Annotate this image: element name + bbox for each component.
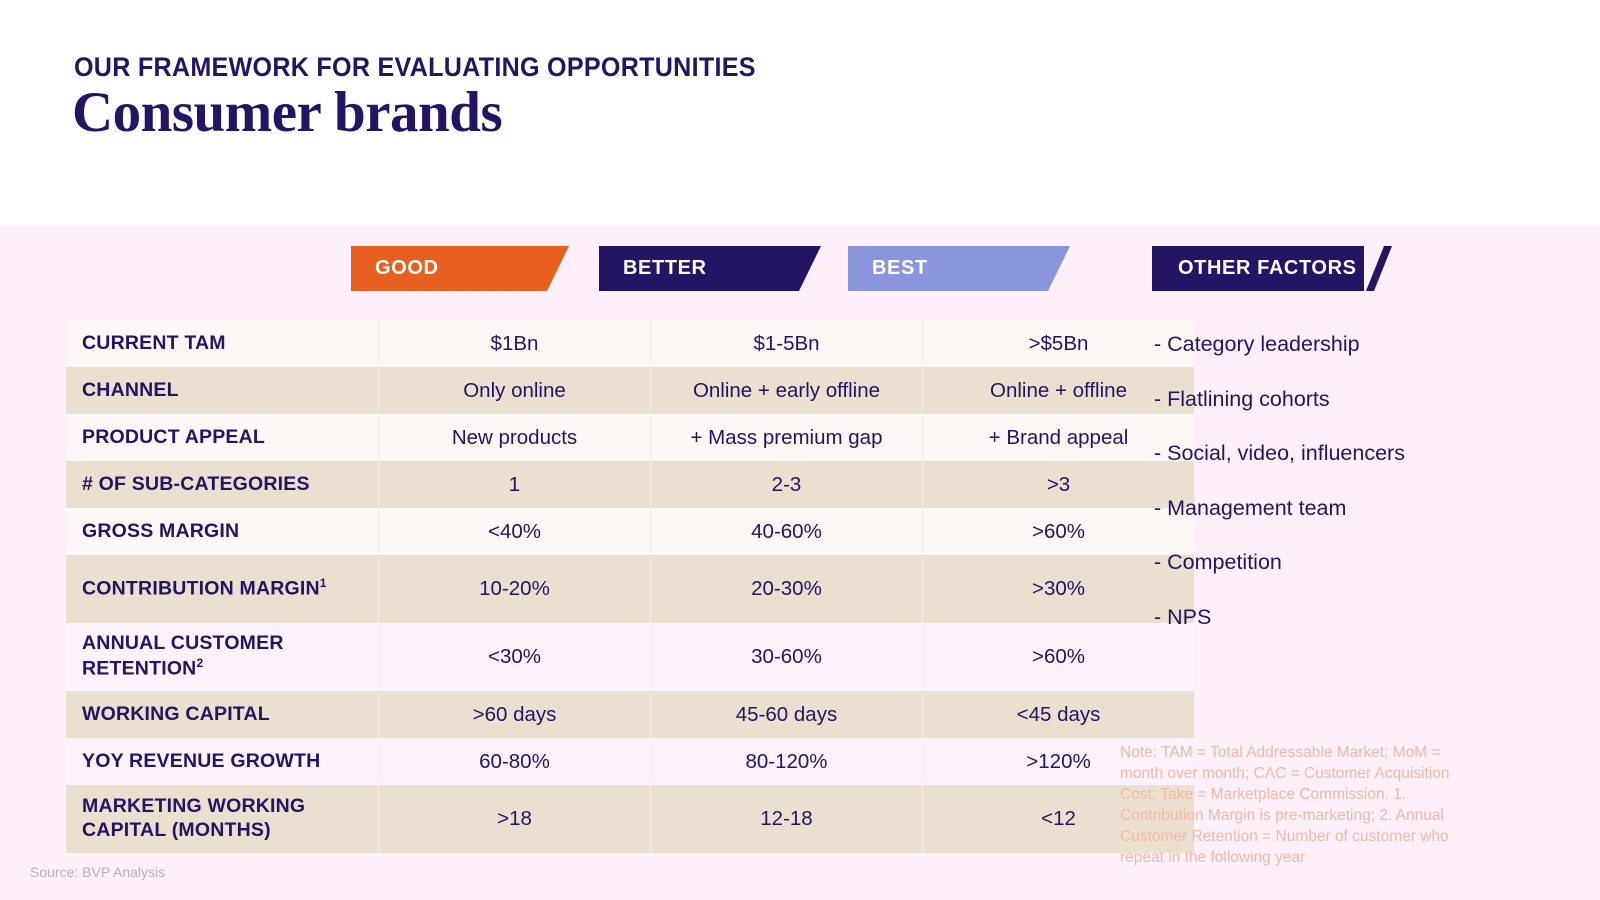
table-row: MARKETING WORKING CAPITAL (MONTHS) >18 1… (66, 785, 1194, 853)
row-label: MARKETING WORKING CAPITAL (MONTHS) (66, 785, 379, 853)
list-item: - NPS (1154, 607, 1554, 629)
column-banner-best-label: BEST (872, 257, 928, 280)
table-row: CHANNEL Only online Online + early offli… (66, 367, 1194, 414)
row-label-footnote-marker: 2 (196, 656, 203, 670)
eyebrow-text: OUR FRAMEWORK FOR EVALUATING OPPORTUNITI… (74, 52, 756, 83)
table-row: CONTRIBUTION MARGIN1 10-20% 20-30% >30% (66, 555, 1194, 623)
cell-best: <45 days (923, 691, 1195, 738)
other-factors-banner-label: OTHER FACTORS (1178, 257, 1357, 280)
list-item: - Management team (1154, 498, 1554, 520)
footnote-text: Note: TAM = Total Addressable Market; Mo… (1120, 742, 1482, 868)
cell-good: >18 (379, 785, 651, 853)
other-factors-banner[interactable]: OTHER FACTORS (1152, 246, 1364, 291)
cell-better: 12-18 (651, 785, 923, 853)
row-label: CURRENT TAM (66, 320, 379, 367)
cell-good: >60 days (379, 691, 651, 738)
cell-good: New products (379, 414, 651, 461)
column-banner-better-label: BETTER (623, 257, 707, 280)
cell-better: 30-60% (651, 623, 923, 691)
list-item: - Competition (1154, 552, 1554, 574)
row-label: ANNUAL CUSTOMER RETENTION2 (66, 623, 379, 691)
row-label-footnote-marker: 1 (320, 576, 327, 590)
list-item: - Flatlining cohorts (1154, 389, 1554, 411)
cell-good: 1 (379, 461, 651, 508)
row-label: # OF SUB-CATEGORIES (66, 461, 379, 508)
cell-good: <40% (379, 508, 651, 555)
row-label: CONTRIBUTION MARGIN1 (66, 555, 379, 623)
row-label: CHANNEL (66, 367, 379, 414)
column-banner-best[interactable]: BEST (848, 246, 1070, 291)
comparison-table: CURRENT TAM $1Bn $1-5Bn >$5Bn CHANNEL On… (66, 320, 1194, 853)
cell-better: 80-120% (651, 738, 923, 785)
cell-better: 40-60% (651, 508, 923, 555)
cell-better: + Mass premium gap (651, 414, 923, 461)
other-factors-list: - Category leadership - Flatlining cohor… (1154, 334, 1554, 661)
table-row: WORKING CAPITAL >60 days 45-60 days <45 … (66, 691, 1194, 738)
table-row: GROSS MARGIN <40% 40-60% >60% (66, 508, 1194, 555)
cell-better: 2-3 (651, 461, 923, 508)
row-label: WORKING CAPITAL (66, 691, 379, 738)
row-label: PRODUCT APPEAL (66, 414, 379, 461)
cell-good: Only online (379, 367, 651, 414)
list-item: - Social, video, influencers (1154, 443, 1554, 465)
table-row: PRODUCT APPEAL New products + Mass premi… (66, 414, 1194, 461)
column-banner-good[interactable]: GOOD (351, 246, 569, 291)
cell-good: <30% (379, 623, 651, 691)
table-row: YOY REVENUE GROWTH 60-80% 80-120% >120% (66, 738, 1194, 785)
cell-better: Online + early offline (651, 367, 923, 414)
comparison-table-body: CURRENT TAM $1Bn $1-5Bn >$5Bn CHANNEL On… (66, 320, 1194, 853)
row-label-text: ANNUAL CUSTOMER RETENTION (82, 632, 284, 679)
cell-better: 20-30% (651, 555, 923, 623)
cell-good: 60-80% (379, 738, 651, 785)
list-item: - Category leadership (1154, 334, 1554, 356)
page-title: Consumer brands (72, 80, 502, 145)
cell-good: $1Bn (379, 320, 651, 367)
table-row: # OF SUB-CATEGORIES 1 2-3 >3 (66, 461, 1194, 508)
cell-better: $1-5Bn (651, 320, 923, 367)
table-row: CURRENT TAM $1Bn $1-5Bn >$5Bn (66, 320, 1194, 367)
column-banner-good-label: GOOD (375, 257, 439, 280)
table-row: ANNUAL CUSTOMER RETENTION2 <30% 30-60% >… (66, 623, 1194, 691)
column-banner-better[interactable]: BETTER (599, 246, 821, 291)
cell-better: 45-60 days (651, 691, 923, 738)
header-band: OUR FRAMEWORK FOR EVALUATING OPPORTUNITI… (0, 0, 1600, 226)
cell-good: 10-20% (379, 555, 651, 623)
row-label: GROSS MARGIN (66, 508, 379, 555)
row-label: YOY REVENUE GROWTH (66, 738, 379, 785)
source-text: Source: BVP Analysis (30, 864, 165, 880)
row-label-text: CONTRIBUTION MARGIN (82, 578, 320, 600)
